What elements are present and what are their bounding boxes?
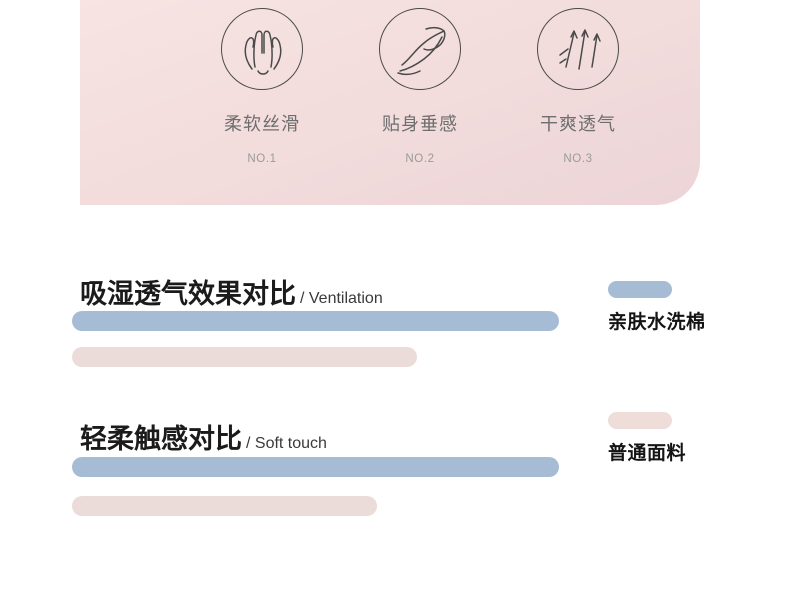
feature-label: 贴身垂感	[340, 110, 500, 136]
feature-number: NO.2	[340, 153, 500, 165]
legend-swatch-blue	[608, 281, 672, 298]
feature-item-1: 柔软丝滑 NO.1	[182, 8, 342, 165]
fabric-drape-icon	[379, 8, 461, 90]
legend-item-normal-fabric: 普通面料	[608, 412, 686, 465]
chart-title-soft-touch: 轻柔触感对比/ Soft touch	[80, 417, 327, 456]
bar-soft-touch-washed-cotton	[72, 457, 559, 477]
legend-label: 普通面料	[608, 438, 686, 465]
chart-title-ventilation: 吸湿透气效果对比/ Ventilation	[80, 272, 383, 311]
banner-features: 柔软丝滑 NO.1 贴身垂感 NO.2	[80, 0, 700, 205]
chart-title-en: / Soft touch	[246, 435, 327, 452]
legend-label: 亲肤水洗棉	[608, 307, 706, 334]
feature-item-2: 贴身垂感 NO.2	[340, 8, 500, 165]
feature-label: 干爽透气	[498, 110, 658, 136]
top-banner: 柔软丝滑 NO.1 贴身垂感 NO.2	[80, 0, 700, 205]
chart-title-en: / Ventilation	[300, 290, 383, 307]
feature-item-3: 干爽透气 NO.3	[498, 8, 658, 165]
breathable-arrows-icon	[537, 8, 619, 90]
hands-silk-icon	[221, 8, 303, 90]
bar-soft-touch-normal-fabric	[72, 496, 377, 516]
chart-title-cn: 轻柔触感对比	[80, 424, 242, 455]
feature-number: NO.1	[182, 153, 342, 165]
legend-swatch-pink	[608, 412, 672, 429]
bar-ventilation-normal-fabric	[72, 347, 417, 367]
legend-item-washed-cotton: 亲肤水洗棉	[608, 281, 706, 334]
chart-title-cn: 吸湿透气效果对比	[80, 279, 296, 310]
feature-number: NO.3	[498, 153, 658, 165]
bar-ventilation-washed-cotton	[72, 311, 559, 331]
feature-label: 柔软丝滑	[182, 110, 342, 136]
